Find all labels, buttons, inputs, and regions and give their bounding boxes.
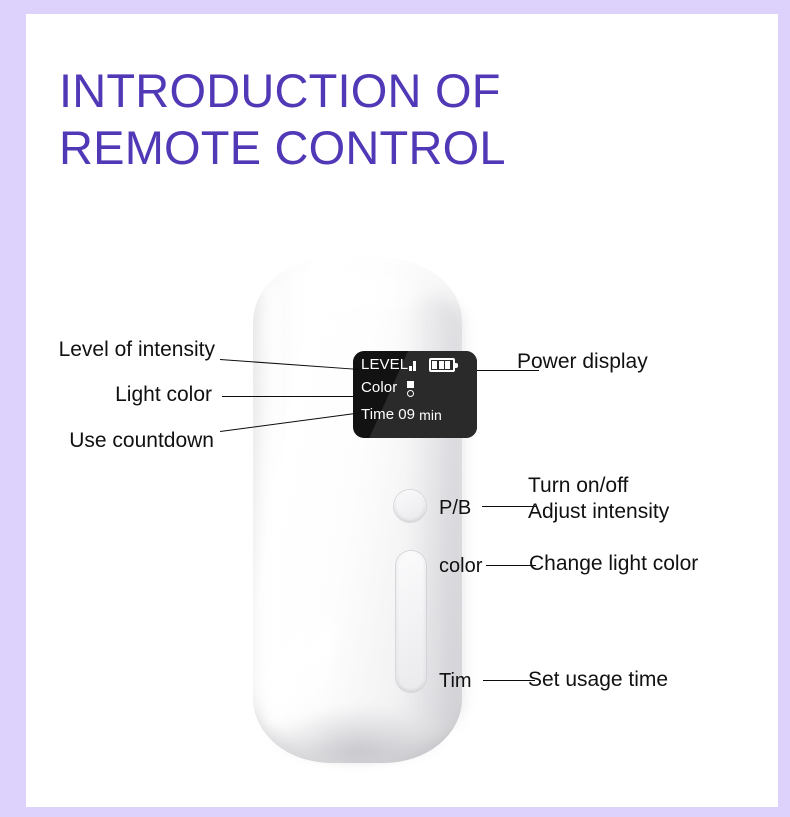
callout-set-usage-time: Set usage time xyxy=(528,667,774,693)
time-label: Time xyxy=(361,406,394,423)
battery-icon xyxy=(429,358,455,372)
callout-turn-on-off: Turn on/off Adjust intensity xyxy=(528,473,778,525)
power-brightness-button[interactable] xyxy=(394,490,426,522)
time-button-caption: Tim xyxy=(439,669,472,693)
callout-level-of-intensity: Level of intensity xyxy=(26,337,215,363)
level-label: LEVEL xyxy=(361,356,408,373)
power-button-caption: P/B xyxy=(439,496,471,520)
signal-bars-icon xyxy=(409,360,416,371)
color-button-caption: color xyxy=(439,554,482,578)
display-row-color: Color xyxy=(361,379,416,396)
color-label: Color xyxy=(361,379,397,396)
color-time-button[interactable] xyxy=(396,551,426,692)
device-display-screen: LEVEL Color Time 09 min xyxy=(353,351,477,438)
color-mode-icon xyxy=(406,380,416,396)
time-unit: min xyxy=(419,407,442,423)
display-row-level: LEVEL xyxy=(361,356,455,373)
callout-power-display: Power display xyxy=(517,349,767,375)
callout-use-countdown: Use countdown xyxy=(26,428,214,454)
remote-control-device xyxy=(253,258,462,763)
page-title: INTRODUCTION OF REMOTE CONTROL xyxy=(59,62,659,176)
slide-canvas: INTRODUCTION OF REMOTE CONTROL LEVEL Col… xyxy=(26,14,778,807)
leader-line-light-color xyxy=(222,396,356,397)
callout-light-color: Light color xyxy=(26,382,212,408)
display-row-time: Time 09 min xyxy=(361,406,442,423)
time-value: 09 xyxy=(398,406,415,423)
callout-change-light-color: Change light color xyxy=(529,551,778,577)
slide-frame: INTRODUCTION OF REMOTE CONTROL LEVEL Col… xyxy=(0,0,790,817)
device-bottom-shadow xyxy=(265,705,451,761)
